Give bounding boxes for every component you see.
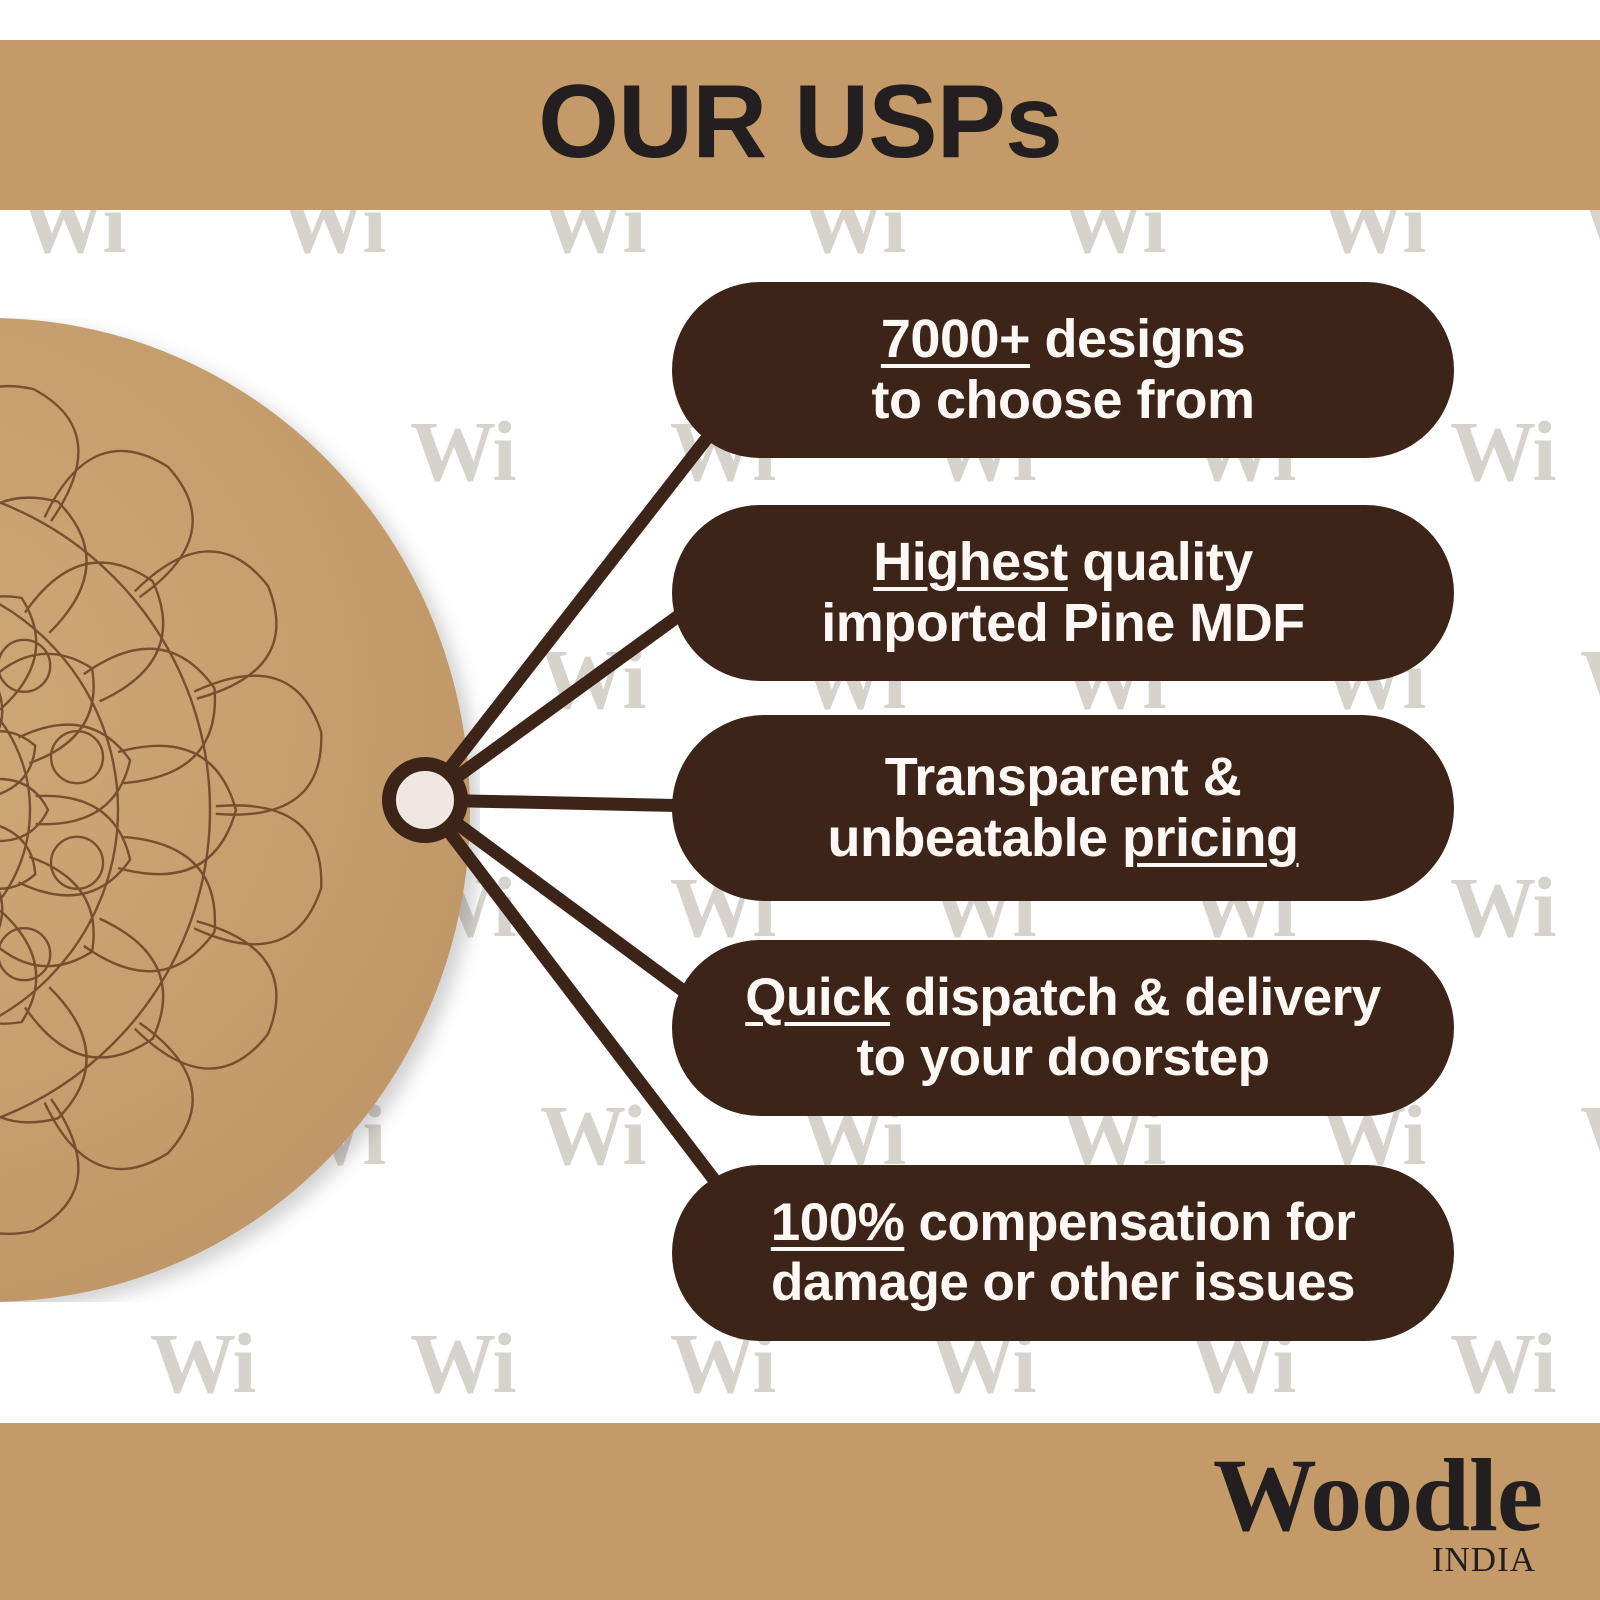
- infographic-canvas: WiWiWiWiWiWiWiWiWiWiWiWiWiWiWiWiWiWiWiWi…: [0, 0, 1600, 1600]
- usp-pill-compensation: 100% compensation fordamage or other iss…: [672, 1165, 1454, 1341]
- page-title: OUR USPs: [0, 52, 1600, 192]
- watermark-mark: Wi: [1450, 864, 1554, 950]
- usp-text-designs: 7000+ designsto choose from: [871, 309, 1254, 431]
- watermark-mark: Wi: [1450, 1320, 1554, 1406]
- watermark-mark: Wi: [1450, 408, 1554, 494]
- usp-pill-delivery: Quick dispatch & deliveryto your doorste…: [672, 940, 1454, 1116]
- woodle-india-logo: Woodle INDIA: [1213, 1448, 1542, 1580]
- usp-pill-designs: 7000+ designsto choose from: [672, 282, 1454, 458]
- usp-pill-quality: Highest qualityimported Pine MDF: [672, 505, 1454, 681]
- watermark-mark: Wi: [150, 1320, 254, 1406]
- usp-text-compensation: 100% compensation fordamage or other iss…: [771, 1193, 1355, 1313]
- watermark-mark: Wi: [540, 636, 644, 722]
- diagram-hub-node: [382, 757, 468, 843]
- usp-text-delivery: Quick dispatch & deliveryto your doorste…: [745, 968, 1381, 1088]
- watermark-mark: Wi: [1580, 1092, 1600, 1178]
- logo-wordmark: Woodle: [1213, 1448, 1542, 1544]
- usp-text-pricing: Transparent &unbeatable pricing: [827, 747, 1298, 869]
- usp-text-quality: Highest qualityimported Pine MDF: [821, 532, 1305, 654]
- watermark-mark: Wi: [540, 1092, 644, 1178]
- usp-pill-pricing: Transparent &unbeatable pricing: [672, 715, 1454, 901]
- watermark-mark: Wi: [410, 1320, 514, 1406]
- watermark-mark: Wi: [1580, 636, 1600, 722]
